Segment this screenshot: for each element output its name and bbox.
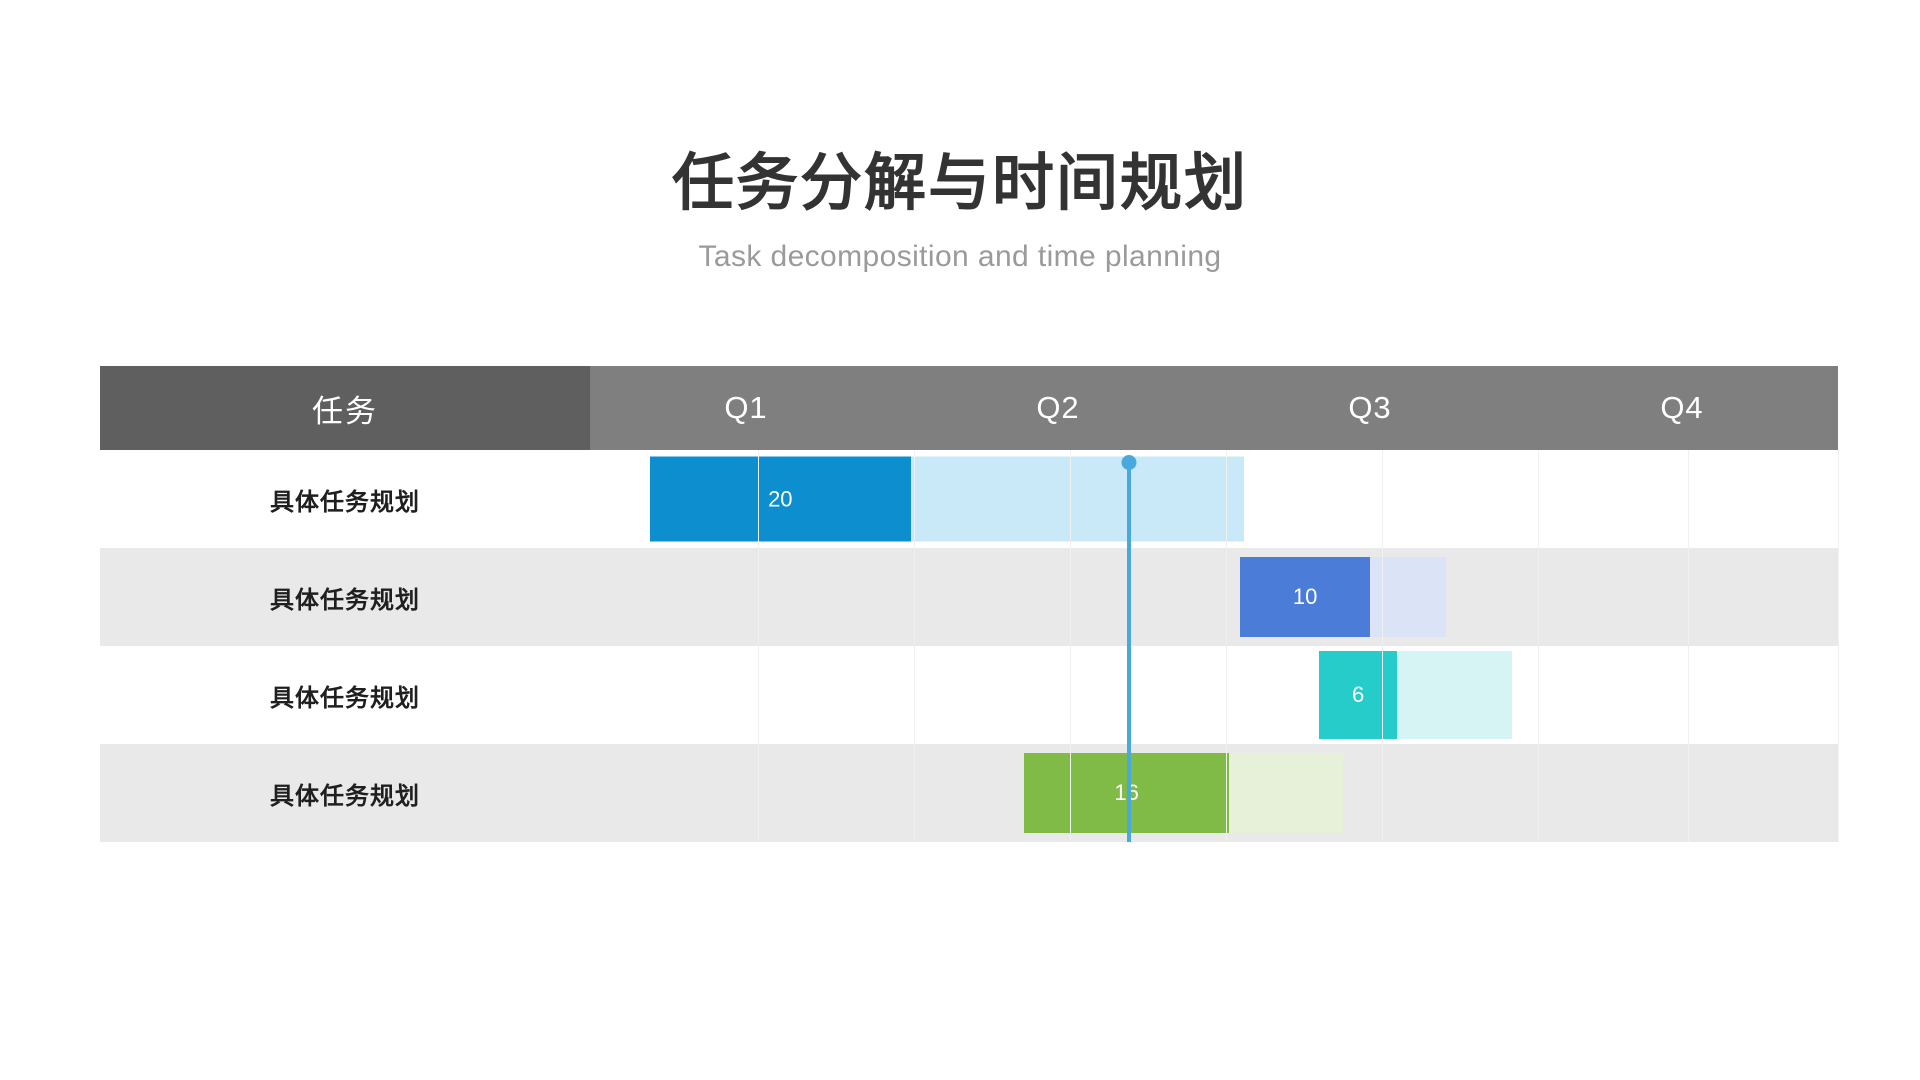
table-row[interactable]: 具体任务规划 6 (100, 646, 1838, 744)
timeline-marker-dot (1121, 455, 1136, 470)
task-label: 具体任务规划 (100, 548, 590, 646)
column-header-q3: Q3 (1214, 366, 1526, 450)
gantt-chart: 任务 Q1 Q2 Q3 Q4 具体任务规划 20 具体任务规划 (100, 366, 1838, 842)
gantt-bar-remaining (911, 457, 1244, 542)
column-header-q2: Q2 (902, 366, 1214, 450)
task-track: 6 (590, 646, 1838, 744)
grid-line (1838, 450, 1839, 842)
gantt-header-row: 任务 Q1 Q2 Q3 Q4 (100, 366, 1838, 450)
column-header-q4: Q4 (1526, 366, 1838, 450)
task-label: 具体任务规划 (100, 744, 590, 842)
gantt-bar-value: 10 (1240, 557, 1370, 637)
timeline-marker[interactable] (1127, 462, 1131, 842)
table-row[interactable]: 具体任务规划 16 (100, 744, 1838, 842)
gantt-bar[interactable]: 10 (1240, 557, 1446, 637)
gantt-bar-remaining (1397, 651, 1512, 739)
gantt-bar-value: 6 (1319, 651, 1398, 739)
page-subtitle: Task decomposition and time planning (0, 240, 1920, 274)
gantt-bar-value: 20 (650, 457, 911, 542)
page-title: 任务分解与时间规划 (0, 150, 1920, 218)
table-row[interactable]: 具体任务规划 20 (100, 450, 1838, 548)
gantt-bar-remaining (1229, 753, 1343, 833)
task-track: 16 (590, 744, 1838, 842)
task-label: 具体任务规划 (100, 450, 590, 548)
quarter-header-group: Q1 Q2 Q3 Q4 (590, 366, 1838, 450)
column-header-task: 任务 (100, 366, 590, 450)
task-track: 10 (590, 548, 1838, 646)
column-header-q1: Q1 (590, 366, 902, 450)
gantt-bar-remaining (1370, 557, 1446, 637)
gantt-bar[interactable]: 16 (1024, 753, 1342, 833)
task-track: 20 (590, 450, 1838, 548)
gantt-bar[interactable]: 20 (650, 457, 1244, 542)
table-row[interactable]: 具体任务规划 10 (100, 548, 1838, 646)
gantt-body: 具体任务规划 20 具体任务规划 10 具体任务规划 (100, 450, 1838, 842)
gantt-bar[interactable]: 6 (1319, 651, 1512, 739)
title-block: 任务分解与时间规划 Task decomposition and time pl… (0, 150, 1920, 274)
task-label: 具体任务规划 (100, 646, 590, 744)
